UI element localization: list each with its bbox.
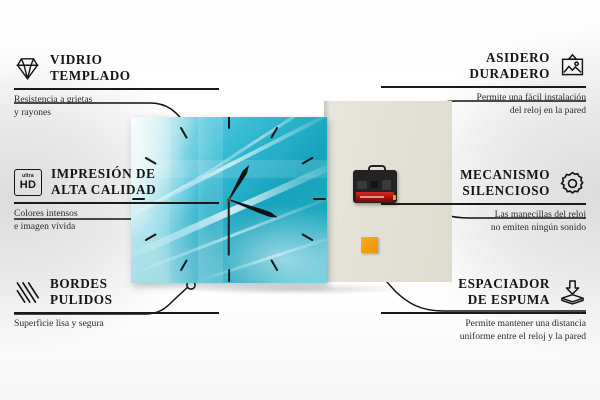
clock-tick xyxy=(180,259,188,271)
ultra-hd-badge-icon: ultra HD xyxy=(14,169,42,196)
picture-frame-hanger-icon xyxy=(559,53,586,80)
divider xyxy=(14,312,219,314)
clock-center-pin xyxy=(227,198,231,202)
feature-title: ASIDERO DURADERO xyxy=(469,50,550,82)
feature-title: ESPACIADOR DE ESPUMA xyxy=(458,276,550,308)
feature-description: Permite mantener una distancia uniforme … xyxy=(381,318,586,344)
clock-tick xyxy=(228,117,230,129)
clock-tick xyxy=(145,233,157,241)
feature-bordes-pulidos: BORDES PULIDOS Superficie lisa y segura xyxy=(14,276,219,331)
feature-header: ESPACIADOR DE ESPUMA xyxy=(381,276,586,308)
feature-description: Superficie lisa y segura xyxy=(14,318,219,331)
clock-tick xyxy=(313,198,326,200)
divider xyxy=(381,86,586,88)
feature-header: ultra HD IMPRESIÓN DE ALTA CALIDAD xyxy=(14,166,219,198)
clock-tick xyxy=(301,233,313,241)
feature-description: Colores intensos e imagen vívida xyxy=(14,208,219,234)
feature-description: Resistencia a grietas y rayones xyxy=(14,94,219,120)
diamond-icon xyxy=(14,55,41,82)
second-hand xyxy=(228,200,230,256)
polished-edges-icon xyxy=(14,279,41,306)
foam-spacer-pad xyxy=(361,237,378,253)
feature-title: IMPRESIÓN DE ALTA CALIDAD xyxy=(51,166,156,198)
feature-title: VIDRIO TEMPLADO xyxy=(50,52,131,84)
divider xyxy=(14,88,219,90)
feature-asidero-duradero: ASIDERO DURADERO Permite una fácil insta… xyxy=(381,50,586,118)
clock-tick xyxy=(270,127,278,139)
clock-tick xyxy=(180,127,188,139)
feature-header: ASIDERO DURADERO xyxy=(381,50,586,82)
badge-ultra-label: ultra xyxy=(22,174,34,179)
infographic-canvas: VIDRIO TEMPLADO Resistencia a grietas y … xyxy=(0,0,600,400)
feature-title: MECANISMO SILENCIOSO xyxy=(460,167,550,199)
divider xyxy=(381,312,586,314)
clock-tick xyxy=(145,157,157,165)
feature-espaciador-de-espuma: ESPACIADOR DE ESPUMA Permite mantener un… xyxy=(381,276,586,344)
feature-header: MECANISMO SILENCIOSO xyxy=(381,167,586,199)
feature-vidrio-templado: VIDRIO TEMPLADO Resistencia a grietas y … xyxy=(14,52,219,120)
badge-hd-label: HD xyxy=(20,180,37,191)
gear-icon xyxy=(559,170,586,197)
feature-description: Las manecillas del reloj no emiten ningú… xyxy=(381,209,586,235)
mechanism-detail-left xyxy=(357,181,367,189)
divider xyxy=(381,203,586,205)
foam-spacer-arrow-icon xyxy=(559,279,586,306)
feature-header: VIDRIO TEMPLADO xyxy=(14,52,219,84)
feature-description: Permite una fácil instalación del reloj … xyxy=(381,92,586,118)
feature-title: BORDES PULIDOS xyxy=(50,276,112,308)
feature-impresion-alta-calidad: ultra HD IMPRESIÓN DE ALTA CALIDAD Color… xyxy=(14,166,219,234)
clock-tick xyxy=(228,269,230,282)
feature-mecanismo-silencioso: MECANISMO SILENCIOSO Las manecillas del … xyxy=(381,167,586,235)
mechanism-detail-center xyxy=(371,181,378,188)
divider xyxy=(14,202,219,204)
feature-header: BORDES PULIDOS xyxy=(14,276,219,308)
clock-tick xyxy=(270,259,278,271)
clock-tick xyxy=(301,157,313,165)
